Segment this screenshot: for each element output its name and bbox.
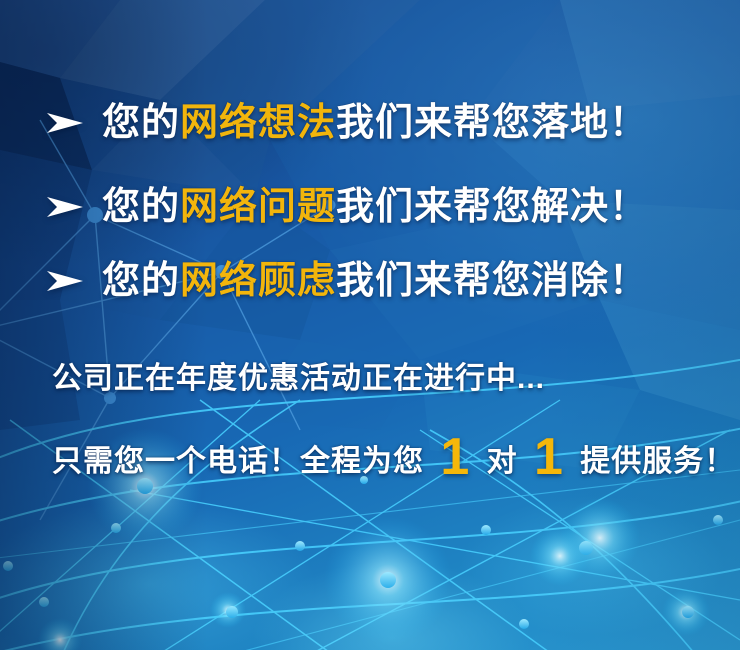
- service-number-one-first: 1: [433, 431, 477, 483]
- headline-2: 您的网络问题我们来帮您解决！: [102, 188, 648, 226]
- subtext-line-2-part2: 对: [477, 447, 527, 477]
- headline-1-highlight: 网络想法: [180, 102, 336, 144]
- headline-2-highlight: 网络问题: [180, 186, 336, 228]
- bullet-row-3: 您的网络顾虑我们来帮您消除！: [0, 262, 740, 300]
- headline-1-tail: 我们来帮您落地！: [336, 102, 648, 144]
- headline-3: 您的网络顾虑我们来帮您消除！: [102, 262, 648, 300]
- headline-2-lead: 您的: [102, 186, 180, 228]
- arrow-right-icon: [42, 110, 88, 136]
- headline-2-tail: 我们来帮您解决！: [336, 186, 648, 228]
- banner-content: 您的网络想法我们来帮您落地！ 您的网络问题我们来帮您解决！ 您的网络顾虑我们: [0, 0, 740, 650]
- bullet-row-2: 您的网络问题我们来帮您解决！: [0, 188, 740, 226]
- subtext-line-2-part3: 提供服务！: [571, 447, 735, 477]
- headline-3-highlight: 网络顾虑: [180, 260, 336, 302]
- subtext-line-1: 公司正在年度优惠活动正在进行中...: [52, 364, 545, 394]
- headline-3-tail: 我们来帮您消除！: [336, 260, 648, 302]
- bullet-row-1: 您的网络想法我们来帮您落地！: [0, 104, 740, 142]
- headline-3-lead: 您的: [102, 260, 180, 302]
- headline-1: 您的网络想法我们来帮您落地！: [102, 104, 648, 142]
- subtext-line-2-part1: 只需您一个电话！全程为您: [52, 447, 433, 477]
- service-number-one-second: 1: [527, 431, 571, 483]
- headline-1-lead: 您的: [102, 102, 180, 144]
- promo-banner: 您的网络想法我们来帮您落地！ 您的网络问题我们来帮您解决！ 您的网络顾虑我们: [0, 0, 740, 650]
- arrow-right-icon: [42, 268, 88, 294]
- subtext-line-2: 只需您一个电话！全程为您 1 对 1 提供服务！: [52, 428, 735, 480]
- arrow-right-icon: [42, 194, 88, 220]
